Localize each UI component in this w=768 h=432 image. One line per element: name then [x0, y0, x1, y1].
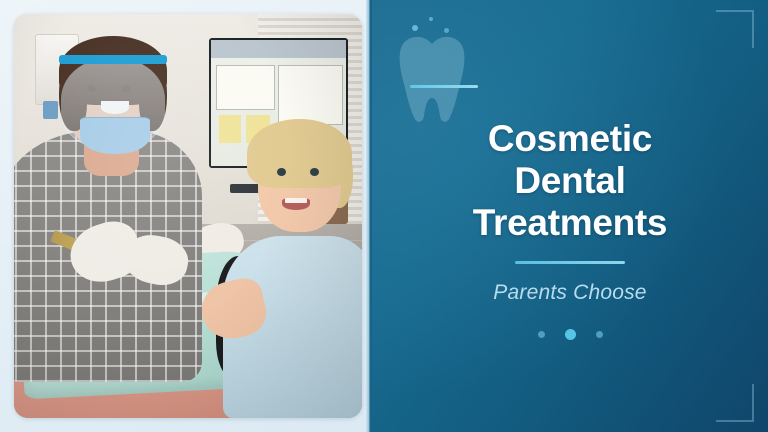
face-shield-band	[59, 55, 167, 64]
sparkle-dot-3-icon	[444, 28, 449, 33]
pagination-dot-2[interactable]	[565, 329, 576, 340]
tooth-accent-line	[410, 85, 478, 88]
child-eye	[277, 168, 286, 176]
tooth-icon	[398, 34, 466, 122]
title-panel: Cosmetic Dental Treatments Parents Choos…	[372, 0, 768, 432]
subtitle: Parents Choose	[398, 281, 742, 305]
pagination-dot-1[interactable]	[538, 331, 545, 338]
child-eye	[310, 168, 319, 176]
title-line-1: Cosmetic	[398, 118, 742, 160]
sparkle-dot-1-icon	[412, 25, 418, 31]
pagination-dot-3[interactable]	[596, 331, 603, 338]
child-smile	[282, 198, 310, 210]
photo-frame	[14, 14, 362, 418]
title-line-2: Dental	[398, 160, 742, 202]
clinic-photo	[14, 14, 362, 418]
sparkle-dot-2-icon	[429, 17, 433, 21]
text-block: Cosmetic Dental Treatments Parents Choos…	[372, 118, 768, 340]
pagination-dots[interactable]	[398, 329, 742, 340]
child-hair	[247, 119, 351, 188]
title-underline	[515, 261, 625, 264]
slide-canvas: Cosmetic Dental Treatments Parents Choos…	[0, 0, 768, 432]
photo-panel	[0, 0, 372, 432]
corner-bracket-bottom-right-icon	[716, 384, 754, 422]
screen-window	[278, 65, 342, 125]
screen-highlight	[219, 115, 241, 143]
title-line-3: Treatments	[398, 202, 742, 244]
face-mask-icon	[80, 117, 150, 154]
page-title: Cosmetic Dental Treatments	[398, 118, 742, 243]
corner-bracket-top-right-icon	[716, 10, 754, 48]
screen-window	[216, 65, 275, 110]
screen-toolbar	[211, 40, 346, 58]
